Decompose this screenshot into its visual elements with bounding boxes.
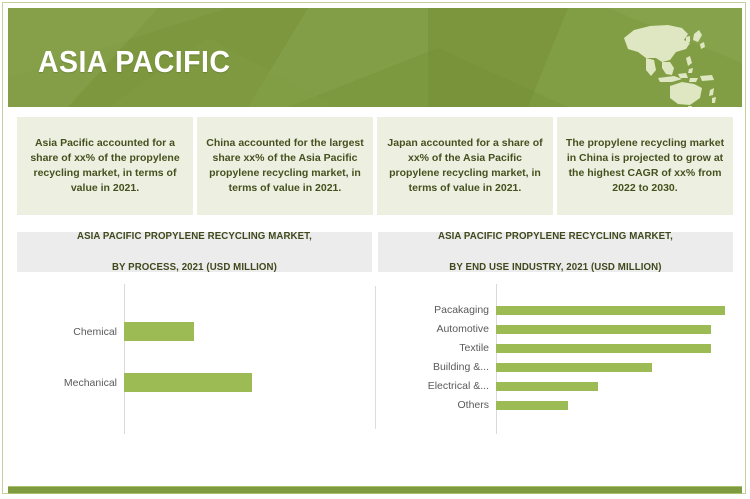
plot-area: Chemical Mechanical: [17, 284, 373, 434]
category-label: Building &...: [379, 363, 496, 372]
infographic-page: ASIA PACIFIC: [0, 0, 750, 499]
callout-text: Asia Pacific accounted for a share of xx…: [24, 136, 186, 196]
bar-row: Others: [379, 401, 733, 410]
callout-text: Japan accounted for a share of xx% of th…: [384, 136, 546, 196]
bar-track: [496, 401, 733, 410]
chart-title-line2: BY END USE INDUSTRY, 2021 (USD MILLION): [438, 260, 673, 275]
bar-row: Textile: [379, 344, 733, 353]
chart-divider: [375, 286, 376, 429]
chart-title-row: ASIA PACIFIC PROPYLENE RECYCLING MARKET,…: [17, 232, 733, 272]
header-banner: ASIA PACIFIC: [8, 8, 742, 107]
bar-rows: Chemical Mechanical: [17, 284, 373, 434]
bar-electrical-and-electronics: [496, 382, 598, 391]
category-label: Chemical: [17, 326, 124, 338]
category-label: Mechanical: [17, 377, 124, 389]
callout-text: China accounted for the largest share xx…: [204, 136, 366, 196]
chart-title-by-end-use-industry: ASIA PACIFIC PROPYLENE RECYCLING MARKET,…: [378, 232, 733, 272]
bar-row: Automotive: [379, 325, 733, 334]
bar-track: [496, 306, 733, 315]
category-label: Textile: [379, 344, 496, 353]
bar-row: Chemical: [17, 322, 373, 341]
page-title: ASIA PACIFIC: [38, 44, 230, 80]
callout-box-japan-share: Japan accounted for a share of xx% of th…: [377, 117, 553, 215]
bar-track: [124, 373, 373, 392]
plot-area: Pacakaging Automotive Textile: [379, 284, 733, 434]
callout-text: The propylene recycling market in China …: [564, 136, 726, 196]
bar-track: [496, 325, 733, 334]
chart-by-process: Chemical Mechanical: [17, 284, 373, 434]
category-label: Pacakaging: [379, 306, 496, 315]
callout-box-asia-pacific: Asia Pacific accounted for a share of xx…: [17, 117, 193, 215]
bar-rows: Pacakaging Automotive Textile: [379, 284, 733, 434]
charts-area: Chemical Mechanical: [17, 284, 733, 434]
bar-others: [496, 401, 568, 410]
category-label: Electrical &...: [379, 382, 496, 391]
callout-row: Asia Pacific accounted for a share of xx…: [17, 117, 733, 215]
bar-track: [496, 344, 733, 353]
bar-packaging: [496, 306, 725, 315]
bar-row: Pacakaging: [379, 306, 733, 315]
bar-building-and-construction: [496, 363, 652, 372]
bar-chemical: [124, 322, 194, 341]
bar-row: Building &...: [379, 363, 733, 372]
asia-pacific-map-icon: [612, 16, 724, 107]
callout-box-china-cagr: The propylene recycling market in China …: [557, 117, 733, 215]
bar-mechanical: [124, 373, 252, 392]
category-label: Others: [379, 401, 496, 410]
footer-bar: [8, 486, 742, 494]
bar-track: [124, 322, 373, 341]
chart-title-text: ASIA PACIFIC PROPYLENE RECYCLING MARKET,…: [433, 229, 678, 275]
chart-title-by-process: ASIA PACIFIC PROPYLENE RECYCLING MARKET,…: [17, 232, 372, 272]
bar-row: Electrical &...: [379, 382, 733, 391]
bar-textile: [496, 344, 711, 353]
chart-title-line1: ASIA PACIFIC PROPYLENE RECYCLING MARKET,: [438, 229, 673, 244]
callout-box-china-share: China accounted for the largest share xx…: [197, 117, 373, 215]
bar-automotive: [496, 325, 711, 334]
chart-title-line1: ASIA PACIFIC PROPYLENE RECYCLING MARKET,: [77, 229, 312, 244]
chart-title-text: ASIA PACIFIC PROPYLENE RECYCLING MARKET,…: [72, 229, 317, 275]
bar-track: [496, 382, 733, 391]
bar-track: [496, 363, 733, 372]
chart-title-line2: BY PROCESS, 2021 (USD MILLION): [77, 260, 312, 275]
category-label: Automotive: [379, 325, 496, 334]
bar-row: Mechanical: [17, 373, 373, 392]
chart-by-end-use-industry: Pacakaging Automotive Textile: [379, 284, 733, 434]
